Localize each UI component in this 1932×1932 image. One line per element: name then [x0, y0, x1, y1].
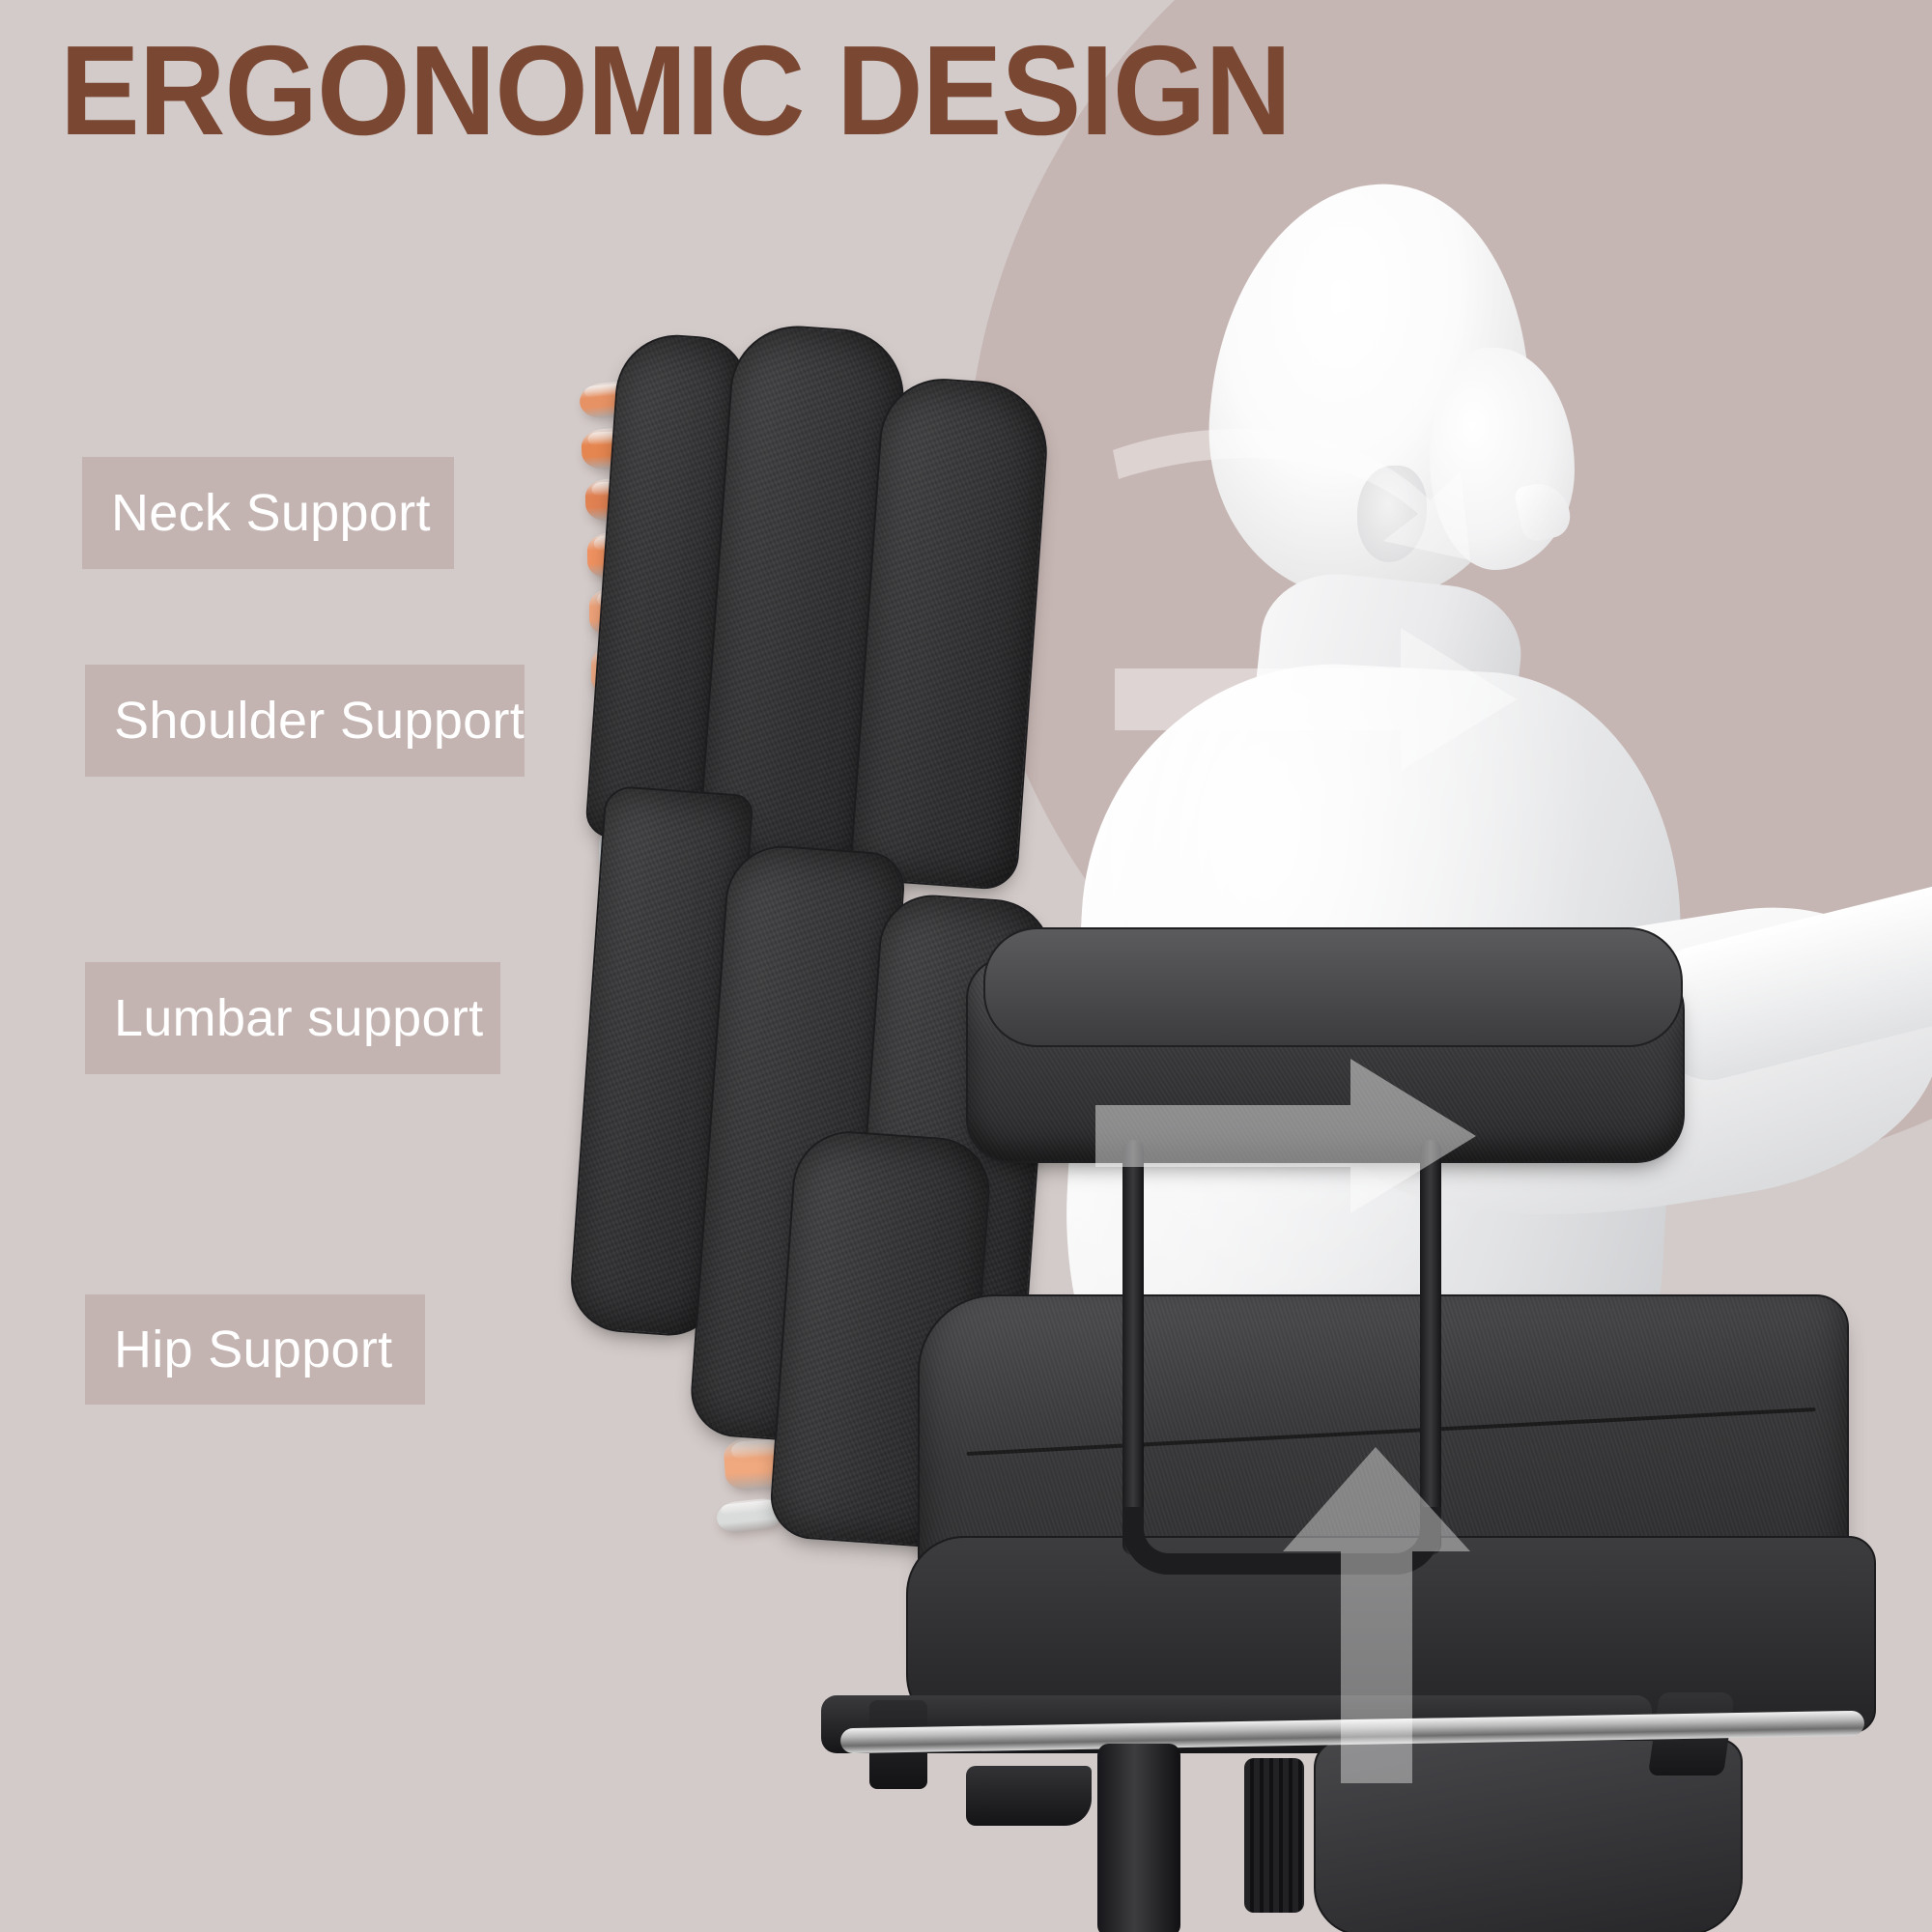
- callout-label-text: Lumbar support: [114, 988, 483, 1048]
- gas-lift-cylinder: [1097, 1744, 1180, 1932]
- height-adjust-lever: [1244, 1758, 1304, 1913]
- callout-shoulder-support[interactable]: Shoulder Support: [85, 665, 525, 777]
- armrest-post-left: [1122, 1140, 1144, 1555]
- headrest-cushion-right: [849, 375, 1052, 892]
- callout-lumbar-support[interactable]: Lumbar support: [85, 962, 500, 1074]
- callout-hip-support[interactable]: Hip Support: [85, 1294, 425, 1405]
- callout-label-text: Hip Support: [114, 1320, 392, 1379]
- callout-label-text: Shoulder Support: [114, 691, 525, 751]
- armrest-top-cushion: [983, 927, 1683, 1047]
- infographic-canvas: ERGONOMIC DESIGN: [0, 0, 1932, 1932]
- callout-neck-support[interactable]: Neck Support: [82, 457, 454, 569]
- tilt-lever: [966, 1766, 1092, 1826]
- product-photo: [676, 290, 1932, 1932]
- armrest-frame-u: [1122, 1507, 1441, 1575]
- armrest-post-right: [1420, 1140, 1441, 1555]
- callout-label-text: Neck Support: [111, 483, 431, 543]
- page-title: ERGONOMIC DESIGN: [60, 27, 1291, 155]
